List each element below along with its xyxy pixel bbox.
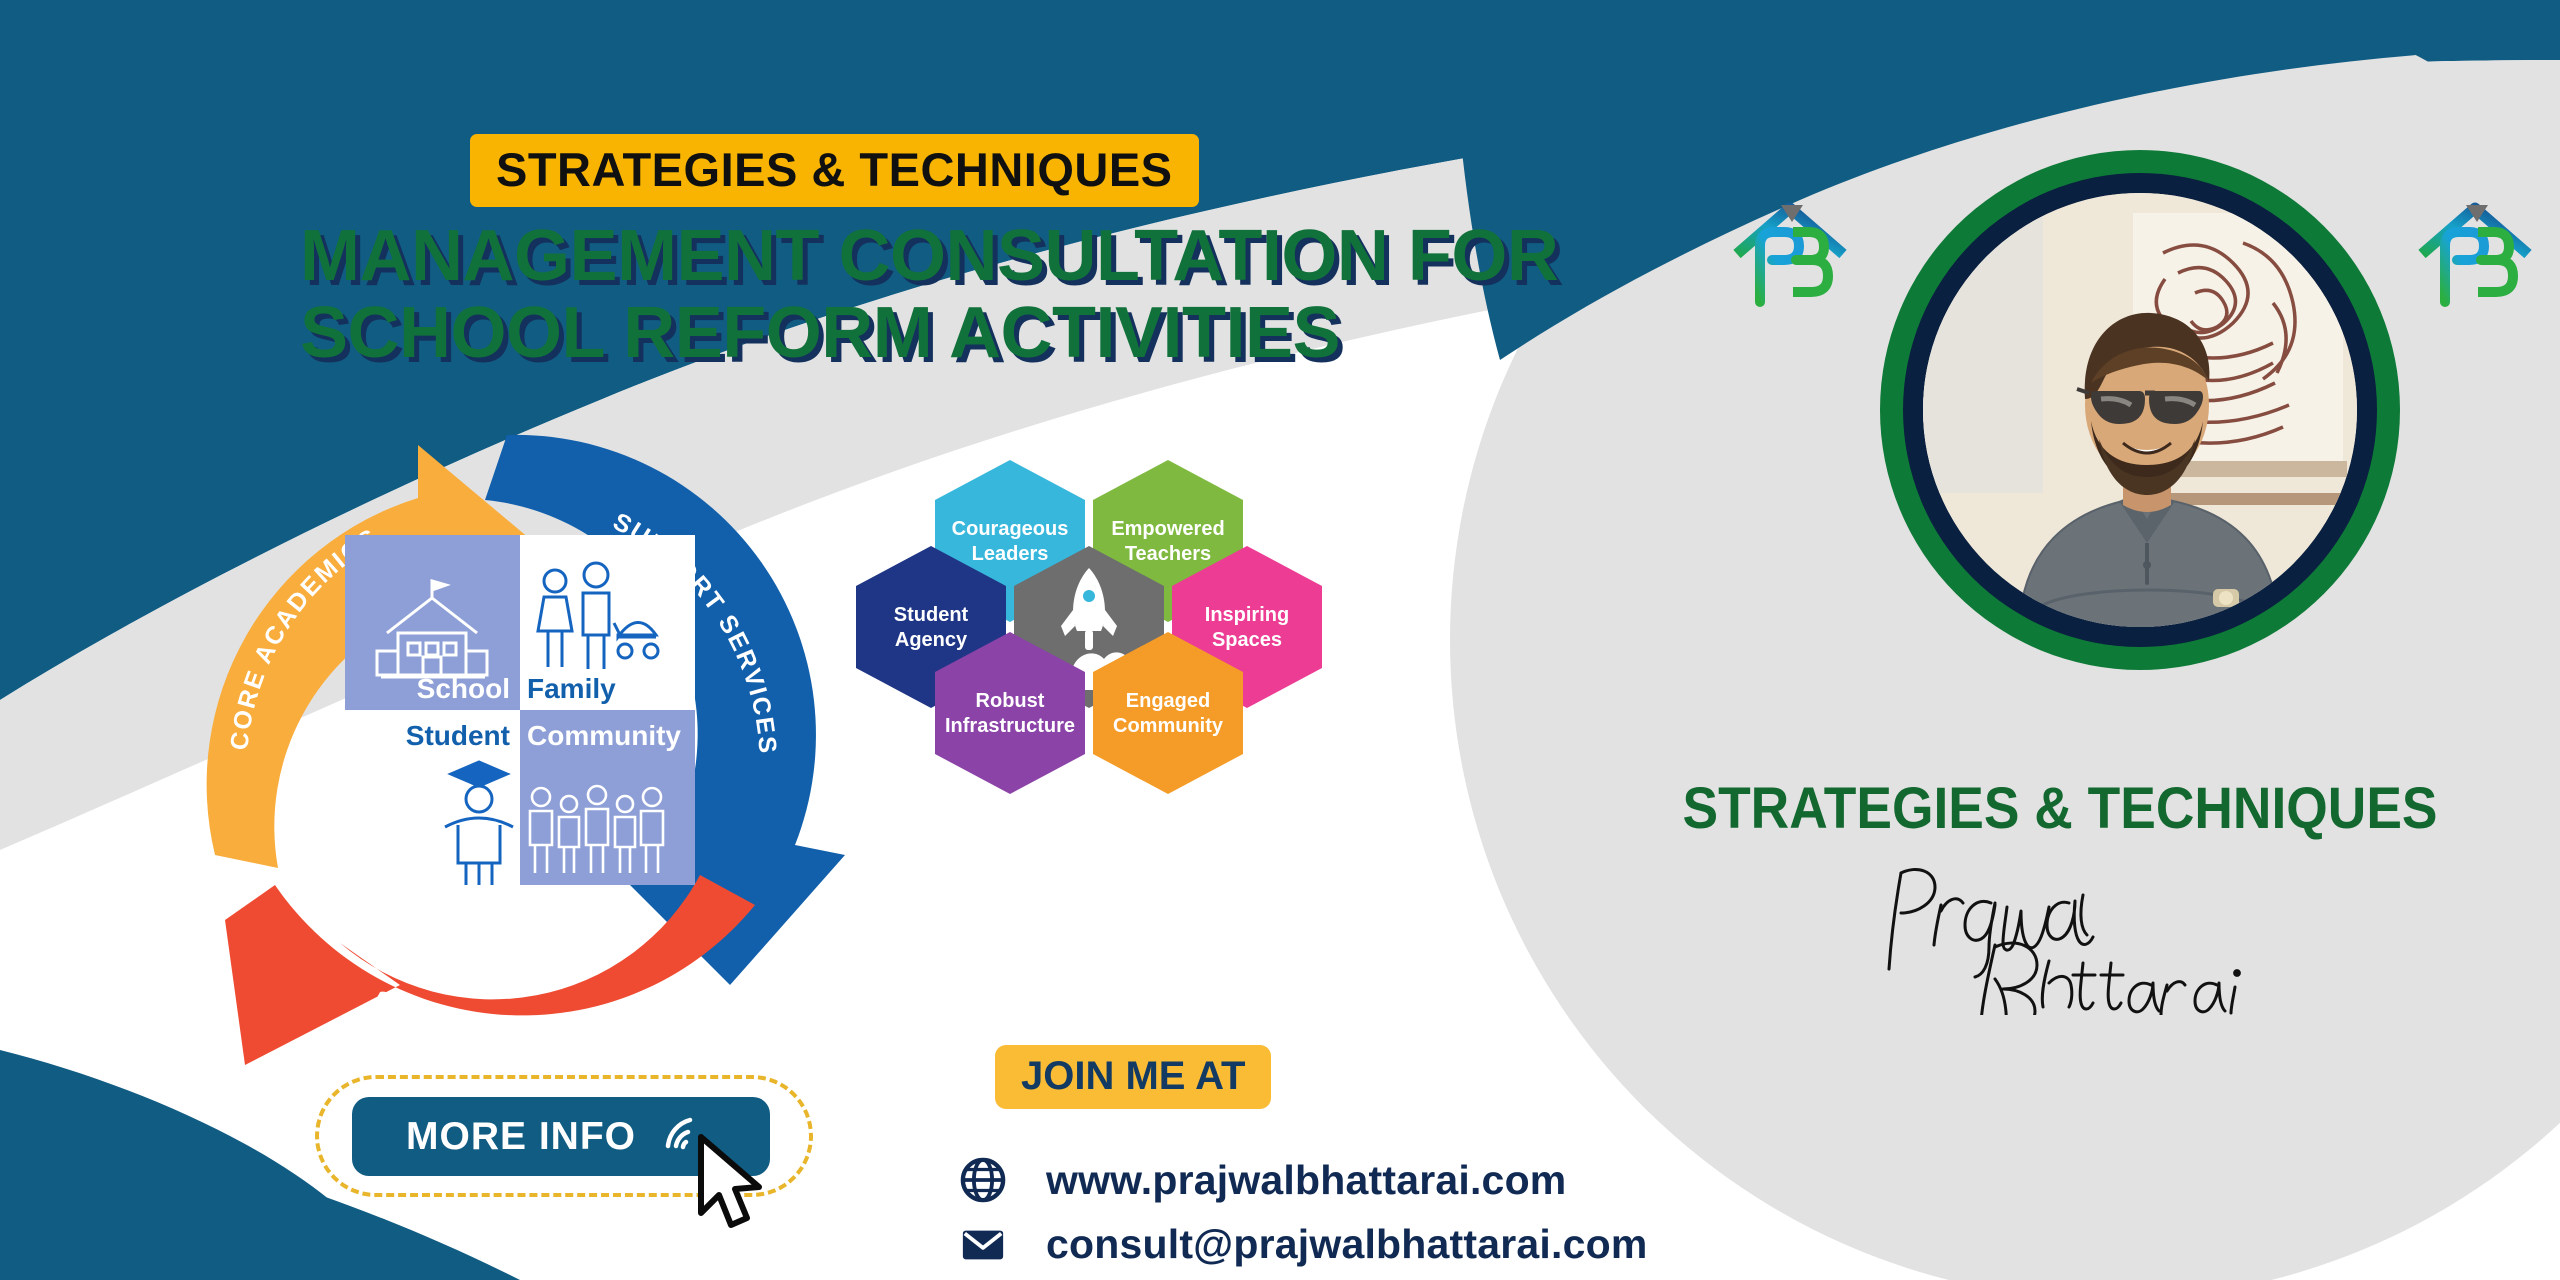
right-panel-heading: STRATEGIES & TECHNIQUES: [1600, 775, 2520, 842]
contact-list: www.prajwalbhattarai.com consult@prajwal…: [960, 1155, 1647, 1280]
hex-label-line1: Robust: [976, 690, 1045, 712]
cycle-diagram-svg: CORE ACADEMICS SUPPORT SERVICES EXPANDED…: [155, 385, 855, 1065]
marketing-banner: STRATEGIES & TECHNIQUES MANAGEMENT CONSU…: [0, 0, 2560, 1280]
quadrant-family-label: Family: [527, 673, 616, 704]
hex-label-line1: Student: [894, 604, 969, 626]
contact-row-email[interactable]: consult@prajwalbhattarai.com: [960, 1219, 1647, 1269]
envelope-icon: [960, 1221, 1006, 1267]
hex-label-line2: Spaces: [1212, 629, 1282, 651]
hex-label-line2: Teachers: [1125, 543, 1211, 565]
title-line-1: MANAGEMENT CONSULTATION FOR: [300, 218, 1560, 295]
contact-row-website[interactable]: www.prajwalbhattarai.com: [960, 1155, 1647, 1205]
right-profile-panel: STRATEGIES & TECHNIQUES: [1560, 0, 2560, 1280]
left-content-column: STRATEGIES & TECHNIQUES MANAGEMENT CONSU…: [0, 0, 1620, 1280]
website-text: www.prajwalbhattarai.com: [1046, 1157, 1566, 1204]
more-info-zone: MORE INFO: [315, 1075, 815, 1200]
pb-logo-icon-right: [2410, 180, 2540, 310]
hex-label-line1: Inspiring: [1205, 604, 1289, 626]
hex-label-line2: Agency: [895, 629, 968, 651]
pb-logo-icon-left: [1725, 180, 1855, 310]
hex-label-line1: Courageous: [952, 518, 1069, 540]
six-pillars-hexagon-diagram: Courageous Leaders Empowered Teachers St…: [855, 450, 1395, 970]
handwritten-signature: [1845, 855, 2275, 1015]
quadrant-school-label: School: [417, 673, 510, 704]
mouse-cursor-icon: [693, 1133, 773, 1233]
quadrant-grid: School Family: [345, 535, 695, 885]
hex-label-line2: Community: [1113, 715, 1224, 737]
portrait-outer-ring: [1880, 150, 2400, 670]
quadrant-community-label: Community: [527, 720, 681, 751]
join-me-at-badge: JOIN ME AT: [995, 1045, 1271, 1109]
avatar: [1923, 193, 2357, 627]
school-reform-cycle-diagram: CORE ACADEMICS SUPPORT SERVICES EXPANDED…: [155, 385, 855, 1065]
more-info-label: MORE INFO: [406, 1115, 636, 1159]
title-line-2: SCHOOL REFORM ACTIVITIES: [300, 295, 1560, 372]
globe-icon: [960, 1157, 1006, 1203]
eyebrow-badge: STRATEGIES & TECHNIQUES: [470, 134, 1199, 207]
hex-label-line1: Engaged: [1126, 690, 1210, 712]
hex-label-line1: Empowered: [1111, 518, 1224, 540]
quadrant-student-label: Student: [406, 720, 510, 751]
page-title: MANAGEMENT CONSULTATION FOR SCHOOL REFOR…: [300, 218, 1560, 372]
hex-label-line2: Leaders: [972, 543, 1049, 565]
email-text: consult@prajwalbhattarai.com: [1046, 1221, 1647, 1268]
portrait-illustration: [1923, 193, 2357, 627]
portrait-inner-ring: [1903, 173, 2377, 647]
signature-block: [1560, 855, 2560, 1015]
hex-label-line2: Infrastructure: [945, 715, 1075, 737]
hexagon-diagram-svg: Courageous Leaders Empowered Teachers St…: [855, 450, 1395, 970]
